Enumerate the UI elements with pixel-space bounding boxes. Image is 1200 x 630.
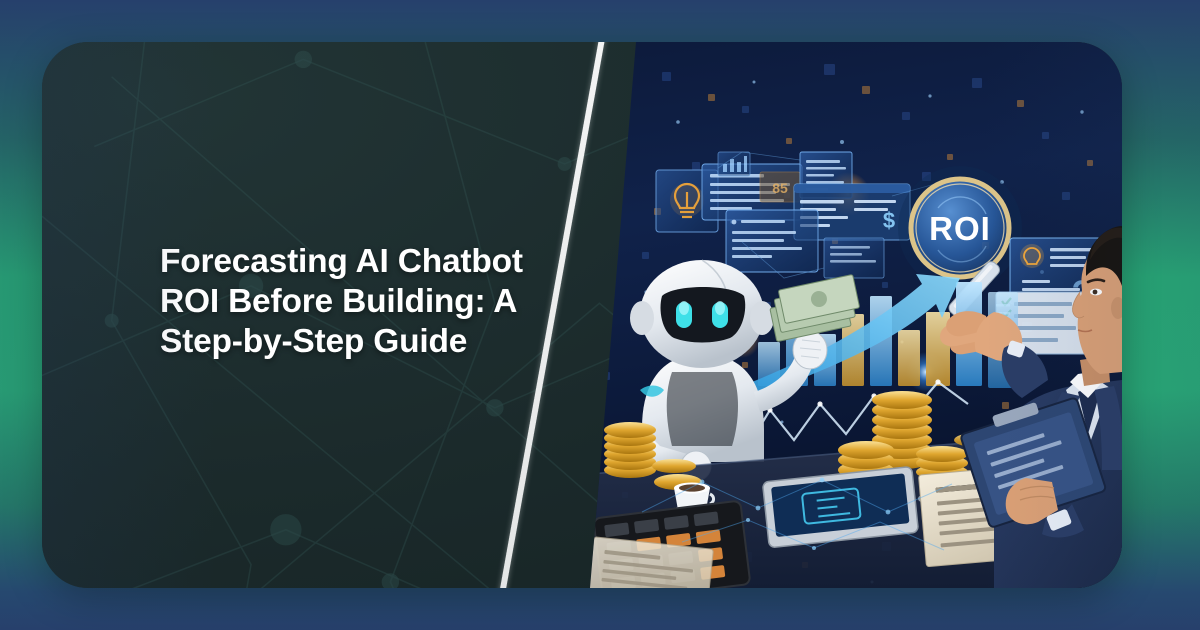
- social-card-canvas: 85: [0, 0, 1200, 630]
- title-line-3: Step-by-Step Guide: [160, 322, 550, 362]
- mini-bar-chart-icon: [718, 152, 750, 176]
- article-hero-card: 85: [42, 42, 1122, 588]
- title-line-2: ROI Before Building: A: [160, 282, 550, 322]
- dollar-sign-icon: $: [883, 208, 895, 233]
- svg-text:85: 85: [772, 180, 788, 196]
- page-title: Forecasting AI Chatbot ROI Before Buildi…: [160, 242, 550, 362]
- title-line-1: Forecasting AI Chatbot: [160, 242, 550, 282]
- svg-text:ROI: ROI: [929, 210, 991, 247]
